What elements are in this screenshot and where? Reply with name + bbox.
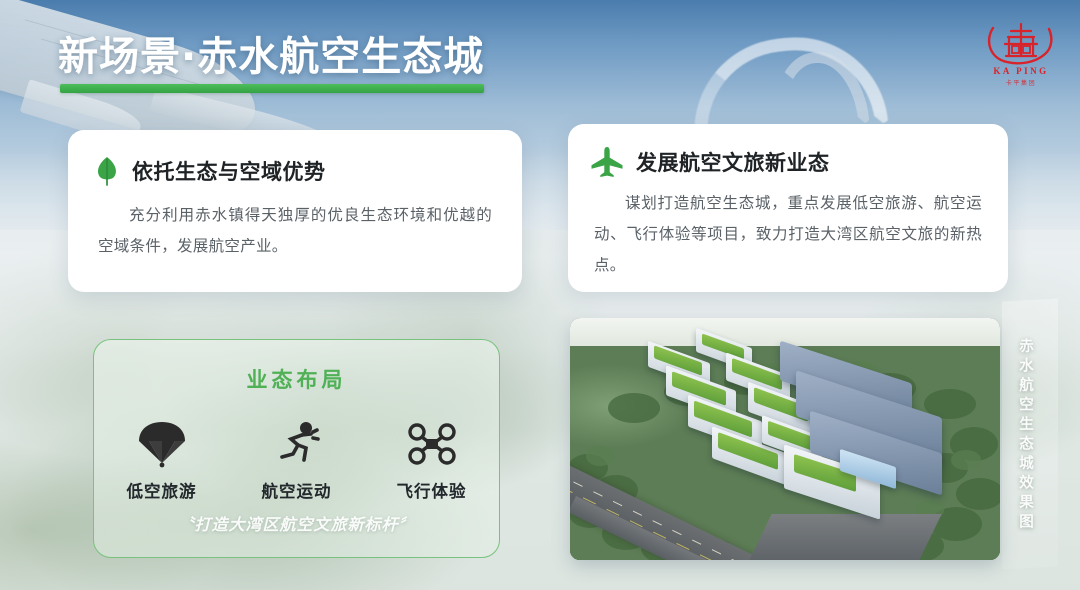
layout-item-flight-experience[interactable]: 飞行体验 [374,416,490,502]
icon-holder [374,416,490,472]
card-header: 发展航空文旅新业态 [568,124,1008,178]
icon-holder [239,416,355,472]
brand-logo: KA PING 卡平集团 [975,16,1067,94]
card-title: 依托生态与空域优势 [132,156,326,186]
title-underline-rule [60,84,484,93]
render-plaza [748,514,941,560]
render-image[interactable] [570,318,1000,560]
layout-item-label: 航空运动 [239,478,355,502]
slide-root: 新场景·赤水航空生态城 KA PING 卡平集团 [0,0,1080,590]
card-body-text: 谋划打造航空生态城，重点发展低空旅游、航空运动、飞行体验等项目，致力打造大湾区航… [594,188,982,281]
drone-icon [407,422,457,466]
page-title: 新场景·赤水航空生态城 [58,24,484,82]
pagoda-tower-icon [975,16,1067,68]
layout-panel-quote: 〝打造大湾区航空文旅新标杆〞 [94,511,499,535]
card-header: 依托生态与空域优势 [68,130,522,186]
card-tourism[interactable]: 发展航空文旅新业态 谋划打造航空生态城，重点发展低空旅游、航空运动、飞行体验等项… [568,124,1008,292]
layout-panel-title: 业态布局 [94,364,499,394]
layout-item-aviation-sports[interactable]: 航空运动 [239,416,355,502]
layout-panel-items: 低空旅游 航空运 [94,416,499,511]
running-person-icon [273,421,321,467]
layout-item-low-altitude-tourism[interactable]: 低空旅游 [104,416,220,502]
logo-chinese-text: 卡平集团 [975,78,1067,87]
layout-item-label: 低空旅游 [104,478,220,502]
airplane-icon [590,146,624,178]
icon-holder [104,416,220,472]
layout-item-label: 飞行体验 [374,478,490,502]
render-caption: 赤水航空生态城效果图 [1010,338,1036,533]
card-title: 发展航空文旅新业态 [636,147,830,177]
logo-english-text: KA PING [975,66,1067,76]
card-body-text: 充分利用赤水镇得天独厚的优良生态环境和优越的空域条件，发展航空产业。 [98,200,492,262]
leaf-icon [94,156,120,186]
layout-panel: 业态布局 低空旅游 [93,339,500,558]
parachute-icon [137,420,187,468]
card-ecology[interactable]: 依托生态与空域优势 充分利用赤水镇得天独厚的优良生态环境和优越的空域条件，发展航… [68,130,522,292]
